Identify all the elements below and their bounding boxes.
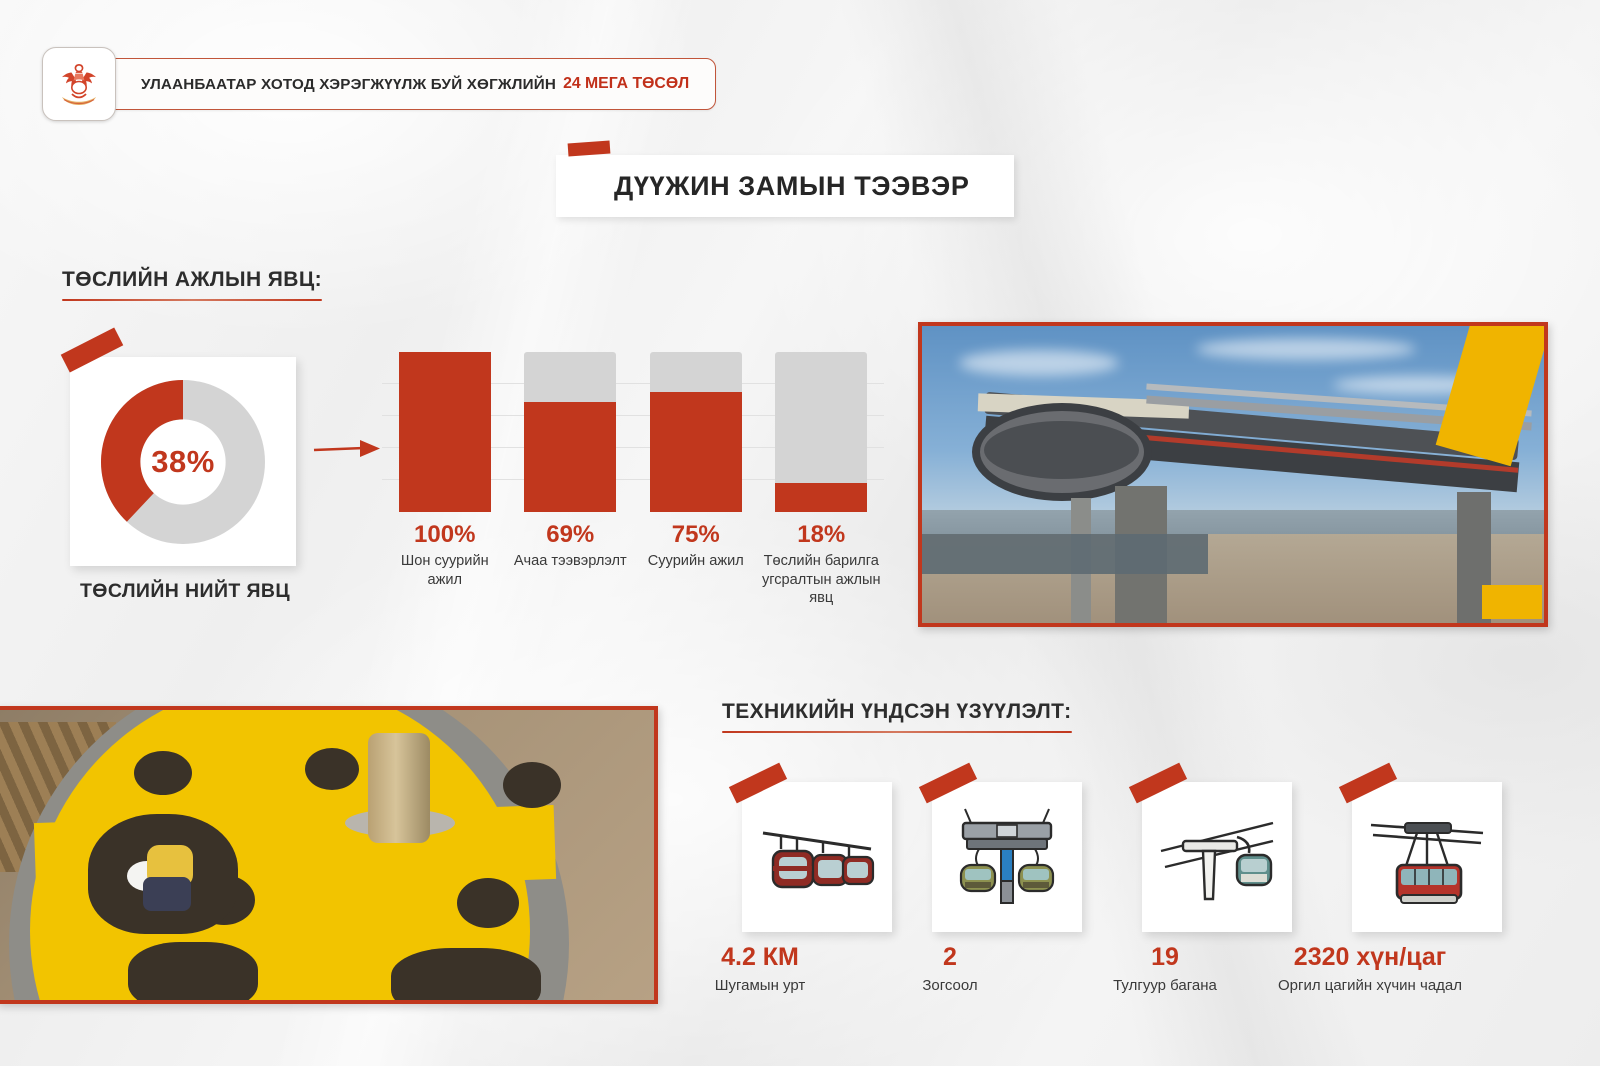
tech-spec-caption: Оргил цагийн хүчин чадал: [1265, 976, 1475, 996]
tech-spec-caption: Тулгуур багана: [1060, 976, 1270, 996]
tech-spec-value: 2: [845, 944, 1055, 972]
flow-arrow-icon: [312, 432, 382, 466]
cable-car-station-construction-photo: [918, 322, 1548, 627]
bar-label-group: 69%Ачаа тээвэрлэлт: [507, 522, 633, 571]
support-tower-icon: [1142, 782, 1292, 932]
tech-spec-label-group: 4.2 КМШугамын урт: [655, 944, 865, 995]
bar-fill: [775, 483, 867, 512]
bar-column: [524, 352, 616, 512]
tech-spec-label-group: 19Тулгуур багана: [1060, 944, 1270, 995]
bar-fill: [399, 352, 491, 512]
tech-spec-caption: Зогсоол: [845, 976, 1055, 996]
header-bar: УЛААНБААТАР ХОТОД ХЭРЭГЖҮҮЛЖ БУЙ ХӨГЖЛИЙ…: [42, 48, 716, 120]
tech-spec-label-group: 2Зогсоол: [845, 944, 1055, 995]
bar-track: [524, 352, 616, 512]
bar-column: [399, 352, 491, 512]
tech-spec-card: [932, 782, 1082, 932]
bar-label-group: 18%Төслийн барилга угсралтын ажлын явц: [758, 522, 884, 607]
bar-value-label: 18%: [758, 522, 884, 547]
ulaanbaatar-coat-of-arms-icon: [42, 47, 116, 121]
section-heading-progress: ТӨСЛИЙН АЖЛЫН ЯВЦ:: [62, 268, 322, 292]
tech-spec-caption: Шугамын урт: [655, 976, 865, 996]
tech-spec-card: [1352, 782, 1502, 932]
bar-category-label: Суурийн ажил: [633, 552, 759, 570]
bar-category-label: Төслийн барилга угсралтын ажлын явц: [758, 552, 884, 607]
gondola-line-icon: [742, 782, 892, 932]
bar-label-group: 75%Суурийн ажил: [633, 522, 759, 571]
bar-column: [775, 352, 867, 512]
bar-fill: [524, 402, 616, 512]
header-title-pill: УЛААНБААТАР ХОТОД ХЭРЭГЖҮҮЛЖ БУЙ ХӨГЖЛИЙ…: [102, 58, 716, 110]
tech-spec-card: [742, 782, 892, 932]
bar-track: [650, 352, 742, 512]
aerial-tram-car-icon: [1352, 782, 1502, 932]
work-progress-bars: [382, 352, 884, 512]
overall-progress-donut: 38%: [86, 372, 280, 552]
donut-center-value: 38%: [151, 444, 215, 480]
tech-spec-label-group: 2320 хүн/цагОргил цагийн хүчин чадал: [1265, 944, 1475, 995]
bar-label-group: 100%Шон суурийн ажил: [382, 522, 508, 589]
tech-spec-value: 2320 хүн/цаг: [1265, 944, 1475, 972]
donut-caption: ТӨСЛИЙН НИЙТ ЯВЦ: [60, 580, 310, 603]
slide-title-card: ДҮҮЖИН ЗАМЫН ТЭЭВЭР: [556, 155, 1014, 217]
page-title: ДҮҮЖИН ЗАМЫН ТЭЭВЭР: [614, 171, 969, 202]
tech-spec-card: [1142, 782, 1292, 932]
section-heading-tech: ТЕХНИКИЙН ҮНДСЭН ҮЗҮҮЛЭЛТ:: [722, 700, 1072, 724]
bar-fill: [650, 392, 742, 512]
bar-track: [775, 352, 867, 512]
bar-value-label: 100%: [382, 522, 508, 547]
bullwheel-assembly-photo: [0, 706, 658, 1004]
bar-value-label: 75%: [633, 522, 759, 547]
bar-track: [399, 352, 491, 512]
header-title-main: УЛААНБААТАР ХОТОД ХЭРЭГЖҮҮЛЖ БУЙ ХӨГЖЛИЙ…: [141, 76, 556, 93]
tech-spec-value: 4.2 КМ: [655, 944, 865, 972]
header-title-accent: 24 МЕГА ТӨСӨЛ: [563, 75, 689, 93]
bar-column: [650, 352, 742, 512]
bar-category-label: Шон суурийн ажил: [382, 552, 508, 589]
bar-category-label: Ачаа тээвэрлэлт: [507, 552, 633, 570]
station-platform-icon: [932, 782, 1082, 932]
tech-spec-value: 19: [1060, 944, 1270, 972]
bar-value-label: 69%: [507, 522, 633, 547]
